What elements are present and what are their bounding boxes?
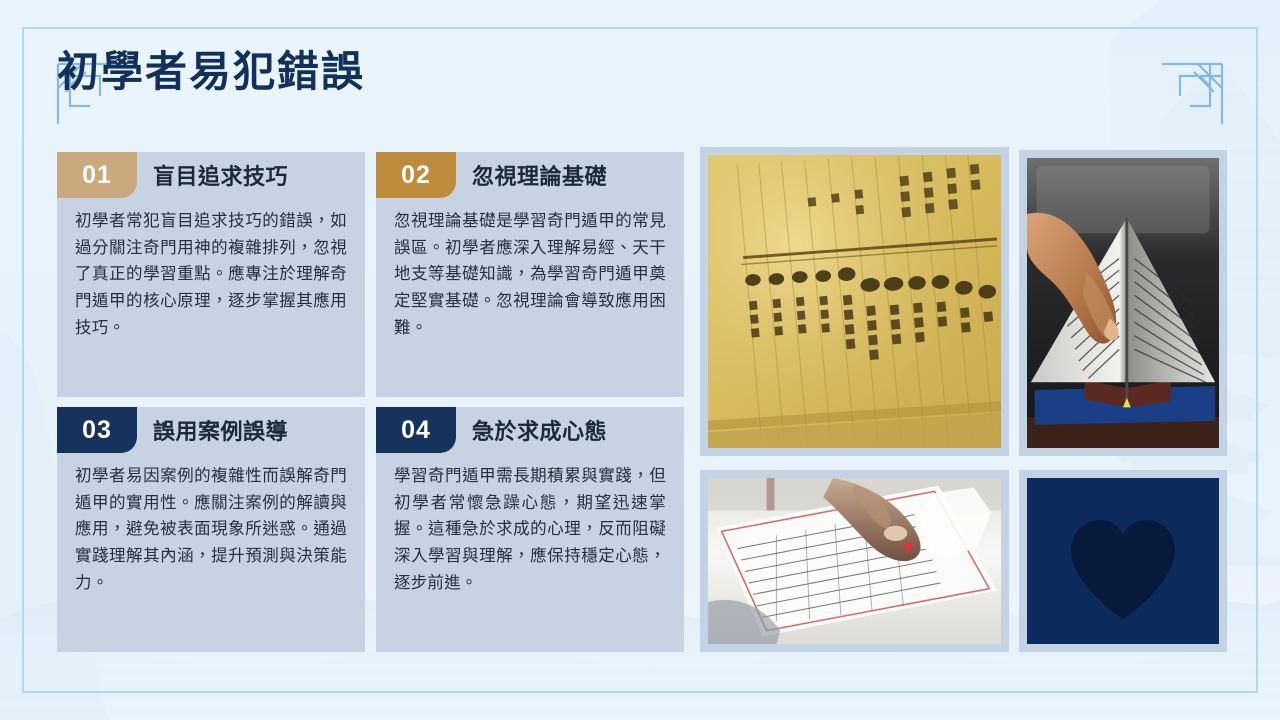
card-header: 01 盲目追求技巧 (57, 152, 365, 198)
page-title: 初學者易犯錯誤 (57, 51, 365, 93)
heart-icon (1027, 478, 1219, 644)
corner-ornament-icon (1160, 62, 1224, 126)
card-body-text: 初學者易因案例的複雜性而誤解奇門遁甲的實用性。應關注案例的解讀與應用，避免被表面… (57, 453, 365, 597)
card-title: 誤用案例誤導 (137, 407, 365, 453)
card-title: 盲目追求技巧 (137, 152, 365, 198)
reading-hand-image (1027, 158, 1219, 448)
slide-canvas: 初學者易犯錯誤 01 盲目追求技巧 初學者常犯盲目追求技巧的錯誤，如過分關注奇門… (0, 0, 1280, 720)
card-number-badge: 03 (57, 407, 137, 453)
mistake-cards-grid: 01 盲目追求技巧 初學者常犯盲目追求技巧的錯誤，如過分關注奇門用神的複雜排列，… (57, 152, 684, 652)
mistake-card[interactable]: 03 誤用案例誤導 初學者易因案例的複雜性而誤解奇門遁甲的實用性。應關注案例的解… (57, 407, 365, 652)
card-header: 02 忽視理論基礎 (376, 152, 684, 198)
photo-hand-on-red-lined-manuscript (700, 470, 1009, 652)
card-body-text: 初學者常犯盲目追求技巧的錯誤，如過分關注奇門用神的複雜排列，忽視了真正的學習重點… (57, 198, 365, 342)
card-header: 04 急於求成心態 (376, 407, 684, 453)
card-title: 急於求成心態 (456, 407, 684, 453)
card-number-badge: 01 (57, 152, 137, 198)
card-header: 03 誤用案例誤導 (57, 407, 365, 453)
photo-hand-pointing-at-open-book (1019, 150, 1227, 456)
antique-book-image (708, 155, 1001, 448)
card-body-text: 學習奇門遁甲需長期積累與實踐，但初學者常懷急躁心態，期望迅速掌握。這種急於求成的… (376, 453, 684, 597)
photo-collage (700, 147, 1227, 660)
card-body-text: 忽視理論基礎是學習奇門遁甲的常見誤區。初學者應深入理解易經、天干地支等基礎知識，… (376, 198, 684, 342)
photo-antique-chinese-book-page (700, 147, 1009, 456)
mistake-card[interactable]: 04 急於求成心態 學習奇門遁甲需長期積累與實踐，但初學者常懷急躁心態，期望迅速… (376, 407, 684, 652)
mistake-card[interactable]: 01 盲目追求技巧 初學者常犯盲目追求技巧的錯誤，如過分關注奇門用神的複雜排列，… (57, 152, 365, 397)
card-title: 忽視理論基礎 (456, 152, 684, 198)
manuscript-image (708, 478, 1001, 644)
card-number-badge: 04 (376, 407, 456, 453)
card-number-badge: 02 (376, 152, 456, 198)
mistake-card[interactable]: 02 忽視理論基礎 忽視理論基礎是學習奇門遁甲的常見誤區。初學者應深入理解易經、… (376, 152, 684, 397)
photo-navy-heart-panel (1019, 470, 1227, 652)
